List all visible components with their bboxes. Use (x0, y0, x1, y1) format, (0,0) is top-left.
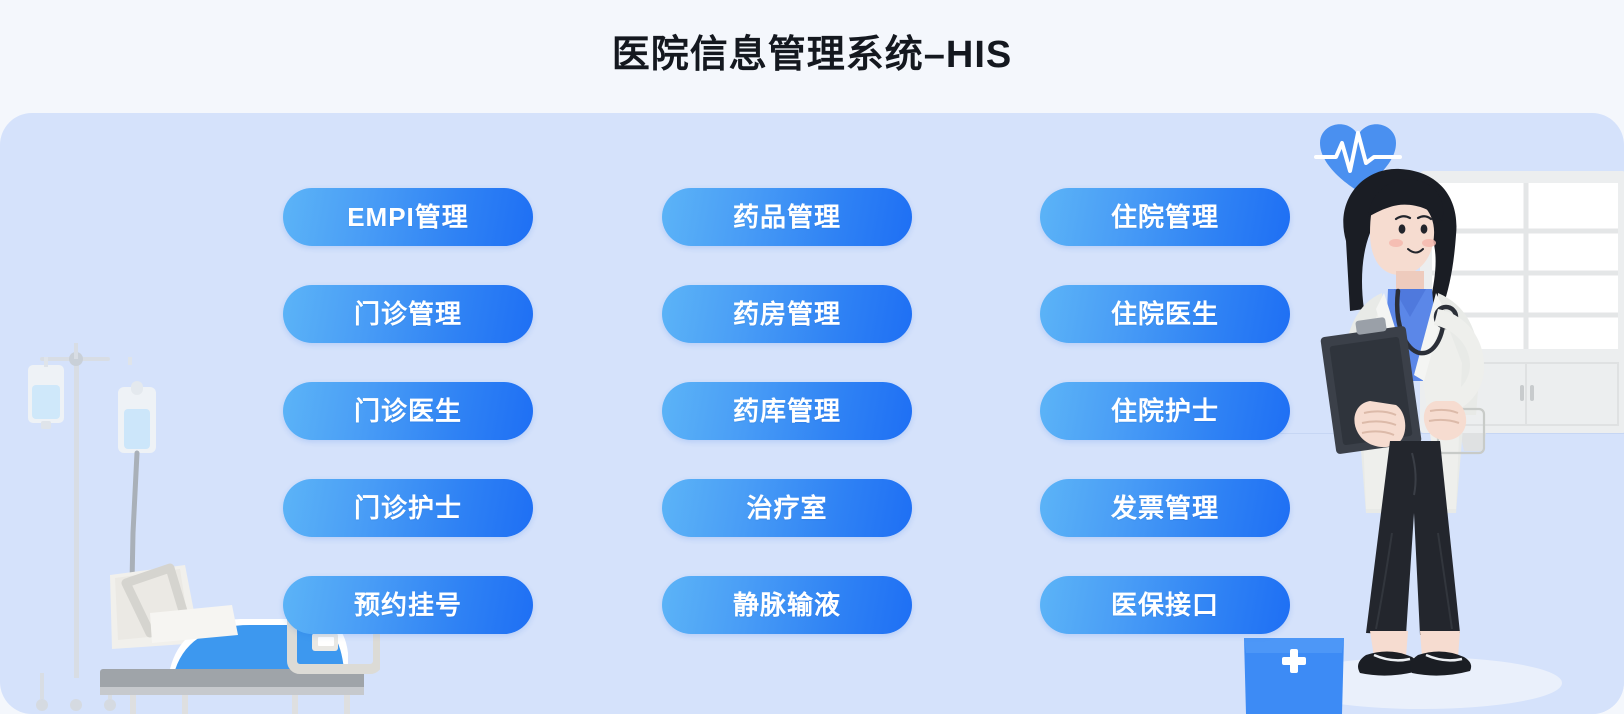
menu-button-appointment-registration[interactable]: 预约挂号 (283, 576, 533, 634)
menu-button-invoice-management[interactable]: 发票管理 (1040, 479, 1290, 537)
menu-button-treatment-room[interactable]: 治疗室 (662, 479, 912, 537)
menu-button-inpatient-doctor[interactable]: 住院医生 (1040, 285, 1290, 343)
menu-button-pharmacy-management[interactable]: 药房管理 (662, 285, 912, 343)
page-title: 医院信息管理系统–HIS (0, 32, 1624, 80)
menu-button-empi-management[interactable]: EMPI管理 (283, 188, 533, 246)
menu-button-outpatient-management[interactable]: 门诊管理 (283, 285, 533, 343)
inpatient-column: 住院管理 住院医生 住院护士 发票管理 医保接口 (1040, 188, 1290, 634)
menu-button-outpatient-nurse[interactable]: 门诊护士 (283, 479, 533, 537)
menu-button-outpatient-doctor[interactable]: 门诊医生 (283, 382, 533, 440)
pharmacy-column: 药品管理 药房管理 药库管理 治疗室 静脉输液 (662, 188, 912, 634)
outpatient-column: EMPI管理 门诊管理 门诊医生 门诊护士 预约挂号 (283, 188, 533, 634)
main-panel: EMPI管理 门诊管理 门诊医生 门诊护士 预约挂号 药品管理 药房管理 药库管… (0, 113, 1624, 714)
menu-button-intravenous-infusion[interactable]: 静脉输液 (662, 576, 912, 634)
module-menu-grid: EMPI管理 门诊管理 门诊医生 门诊护士 预约挂号 药品管理 药房管理 药库管… (0, 113, 1624, 714)
menu-button-inpatient-nurse[interactable]: 住院护士 (1040, 382, 1290, 440)
menu-button-drug-management[interactable]: 药品管理 (662, 188, 912, 246)
menu-button-inpatient-management[interactable]: 住院管理 (1040, 188, 1290, 246)
menu-button-drug-warehouse-management[interactable]: 药库管理 (662, 382, 912, 440)
menu-button-medical-insurance-interface[interactable]: 医保接口 (1040, 576, 1290, 634)
